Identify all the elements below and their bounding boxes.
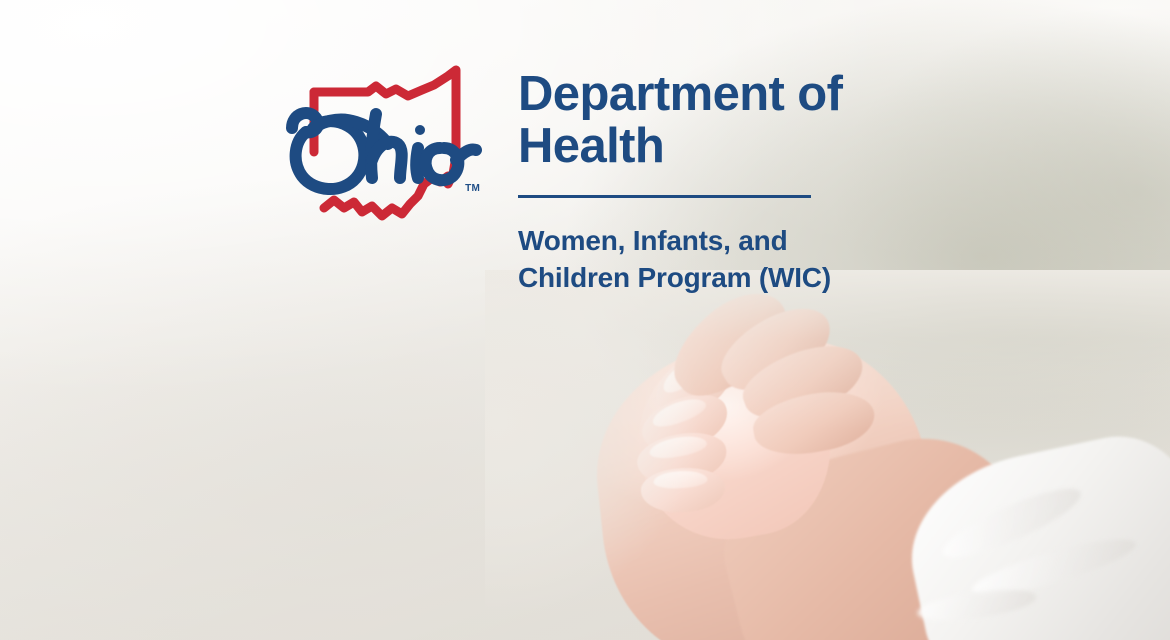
department-title-line-1: Department of xyxy=(518,67,842,121)
department-title: Department of Health xyxy=(518,69,842,173)
trademark-symbol: TM xyxy=(465,184,480,194)
ohio-state-logo-icon: TM xyxy=(272,56,488,232)
title-block: Department of Health Women, Infants, and… xyxy=(518,56,842,297)
logo-lockup: TM Department of Health Women, Infants, … xyxy=(272,56,842,297)
program-title-line-2: Children Program (WIC) xyxy=(518,262,831,293)
hands-photo xyxy=(545,300,1170,640)
wic-banner: TM Department of Health Women, Infants, … xyxy=(0,0,1170,640)
program-title: Women, Infants, and Children Program (WI… xyxy=(518,222,842,297)
title-divider-rule xyxy=(518,195,811,198)
department-title-line-2: Health xyxy=(518,119,664,173)
program-title-line-1: Women, Infants, and xyxy=(518,225,787,256)
